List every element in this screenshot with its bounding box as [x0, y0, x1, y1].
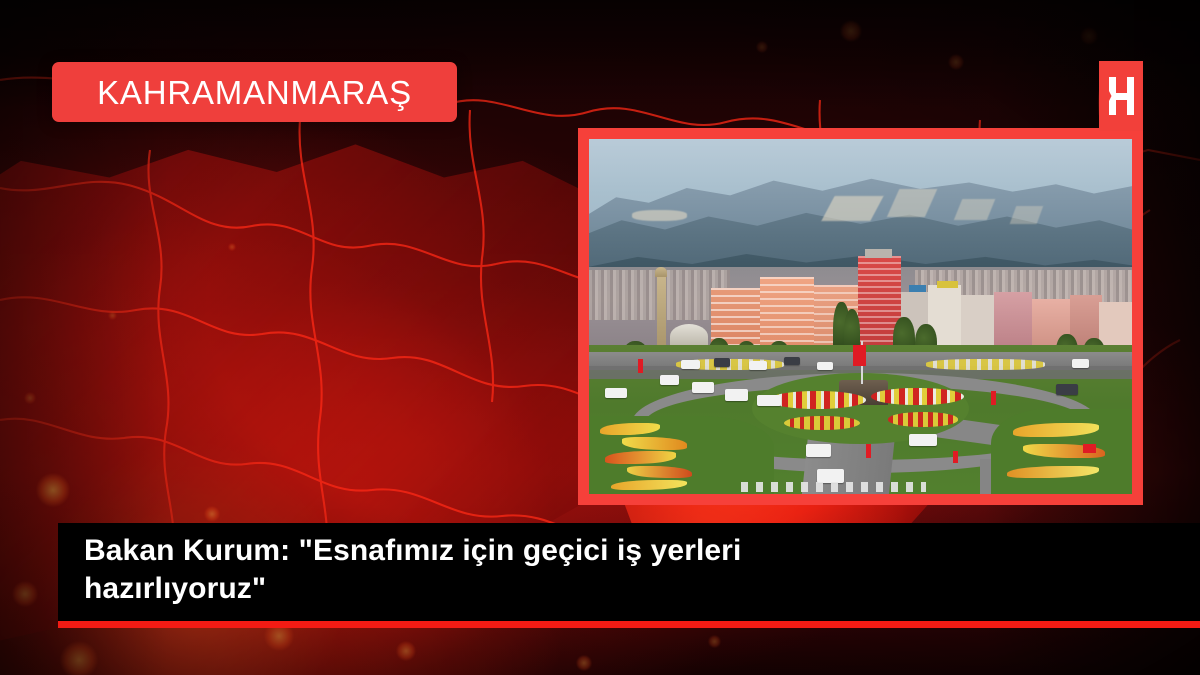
headline-line-2: hazırlıyoruz" — [84, 572, 266, 605]
headline-line-1: Bakan Kurum: "Esnafımız için geçici iş y… — [84, 534, 741, 567]
photo-car — [1072, 359, 1088, 368]
photo-car — [909, 434, 936, 447]
city-badge-label: KAHRAMANMARAŞ — [97, 76, 412, 109]
photo-car — [605, 388, 627, 399]
headline-band: Bakan Kurum: "Esnafımız için geçici iş y… — [58, 523, 1200, 622]
photo-car — [806, 444, 831, 457]
news-photo — [589, 139, 1132, 494]
photo-car — [681, 360, 699, 369]
photo-car — [692, 382, 714, 393]
photo-car — [1056, 384, 1078, 395]
haberler-h-logo[interactable] — [1099, 61, 1143, 131]
headline-text: Bakan Kurum: "Esnafımız için geçici iş y… — [84, 532, 1200, 608]
photo-car — [784, 357, 799, 365]
photo-car — [660, 375, 680, 385]
photo-car — [757, 395, 781, 406]
city-badge: KAHRAMANMARAŞ — [52, 62, 457, 122]
headline-red-rule — [58, 621, 1200, 628]
news-card: KAHRAMANMARAŞ — [0, 0, 1200, 675]
photo-car — [817, 362, 833, 371]
photo-car — [714, 358, 730, 367]
logo-h-icon — [1109, 77, 1134, 115]
news-photo-frame — [578, 128, 1143, 505]
photo-mosque-minaret — [657, 274, 666, 352]
photo-car — [749, 361, 766, 370]
photo-car — [725, 389, 748, 400]
